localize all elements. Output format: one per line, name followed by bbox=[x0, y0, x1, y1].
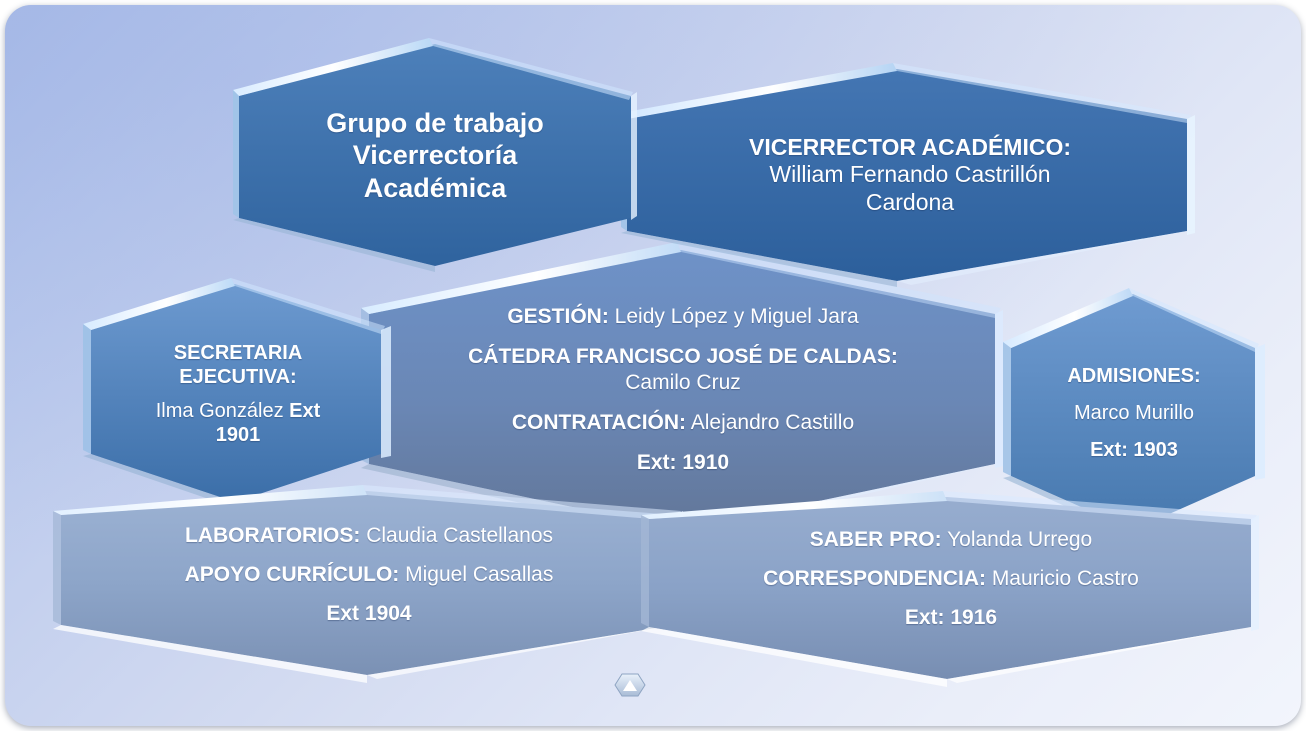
bevel-right bbox=[381, 326, 391, 458]
hex-node-laboratorios[interactable]: LABORATORIOS: Claudia Castellanos APOYO … bbox=[53, 485, 685, 683]
hex-node-vicerrector-academico[interactable]: VICERRECTOR ACADÉMICO: William Fernando … bbox=[621, 63, 1199, 287]
bevel-right bbox=[995, 310, 1003, 468]
hex-node-saber-pro[interactable]: SABER PRO: Yolanda Urrego CORRESPONDENCI… bbox=[641, 491, 1261, 687]
bevel-left bbox=[1003, 342, 1011, 476]
diagram-canvas: Grupo de trabajo Vicerrectoría Académica bbox=[0, 0, 1306, 731]
hex-node-secretaria-ejecutiva[interactable]: SECRETARIA EJECUTIVA: Ilma González Ext … bbox=[83, 278, 393, 510]
bevel-right bbox=[1187, 115, 1195, 235]
bevel-left bbox=[641, 515, 649, 627]
bevel-left bbox=[53, 511, 61, 625]
bevel-left bbox=[233, 90, 239, 218]
diagram-stage: Grupo de trabajo Vicerrectoría Académica bbox=[5, 5, 1301, 726]
bevel-right bbox=[631, 92, 637, 220]
bevel-right bbox=[1255, 344, 1265, 480]
bevel-left bbox=[83, 324, 91, 454]
hex-body bbox=[649, 497, 1251, 679]
bevel-right bbox=[1251, 515, 1259, 631]
hex-node-grupo-de-trabajo[interactable]: Grupo de trabajo Vicerrectoría Académica bbox=[233, 38, 637, 273]
hex-body bbox=[61, 491, 675, 675]
